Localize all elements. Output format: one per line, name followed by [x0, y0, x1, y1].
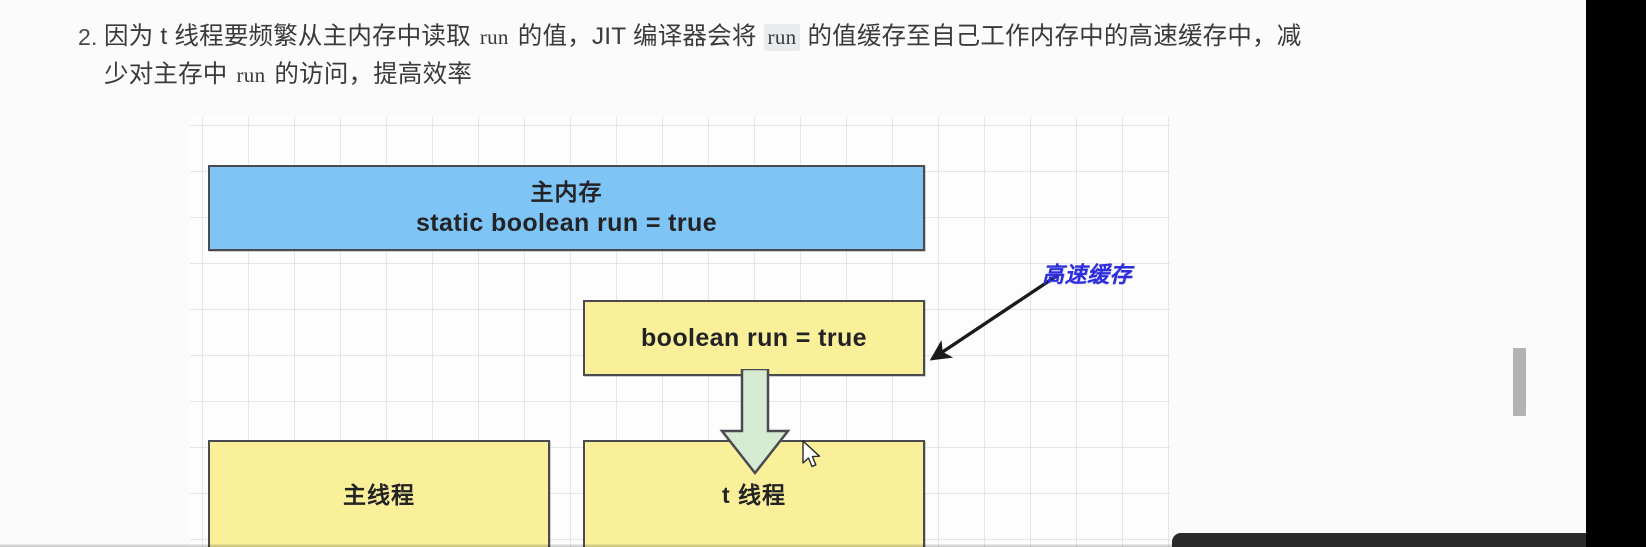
window-gutter — [1586, 0, 1646, 547]
vertical-scrollbar[interactable] — [1572, 0, 1586, 547]
jmm-diagram: 主内存 static boolean run = true boolean ru… — [190, 117, 1170, 547]
screenshot-root: 2.因为 t 线程要频繁从主内存中读取 run 的值，JIT 编译器会将 run… — [0, 0, 1646, 547]
cache-variable-box: boolean run = true — [583, 300, 925, 376]
t-thread-title: t 线程 — [722, 480, 786, 510]
inline-code-run-2: run — [235, 62, 268, 88]
main-thread-title: 主线程 — [343, 480, 415, 510]
scrollbar-thumb[interactable] — [1513, 348, 1526, 416]
list-item-number: 2. — [78, 18, 104, 56]
inline-code-run-highlight: run — [764, 24, 801, 51]
main-memory-title: 主内存 — [531, 177, 603, 207]
main-thread-box: 主线程 — [208, 440, 550, 547]
text-segment-0: 因为 t 线程要频繁从主内存中读取 — [104, 23, 478, 50]
main-memory-box: 主内存 static boolean run = true — [208, 165, 925, 251]
t-thread-box: t 线程 — [583, 440, 925, 547]
main-memory-code: static boolean run = true — [416, 207, 717, 239]
cache-annotation-label: 高速缓存 — [1042, 257, 1132, 289]
text-segment-6: 的访问，提高效率 — [267, 61, 472, 88]
text-segment-2: 的值，JIT 编译器会将 — [511, 23, 764, 50]
document-page: 2.因为 t 线程要频繁从主内存中读取 run 的值，JIT 编译器会将 run… — [0, 0, 1586, 547]
cache-variable-code: boolean run = true — [641, 322, 867, 354]
inline-code-run-1: run — [478, 24, 511, 50]
bottom-overlay-bar — [1172, 533, 1586, 547]
list-item-text: 因为 t 线程要频繁从主内存中读取 run 的值，JIT 编译器会将 run 的… — [104, 18, 1304, 94]
paragraph-list-item: 2.因为 t 线程要频繁从主内存中读取 run 的值，JIT 编译器会将 run… — [78, 18, 1358, 94]
